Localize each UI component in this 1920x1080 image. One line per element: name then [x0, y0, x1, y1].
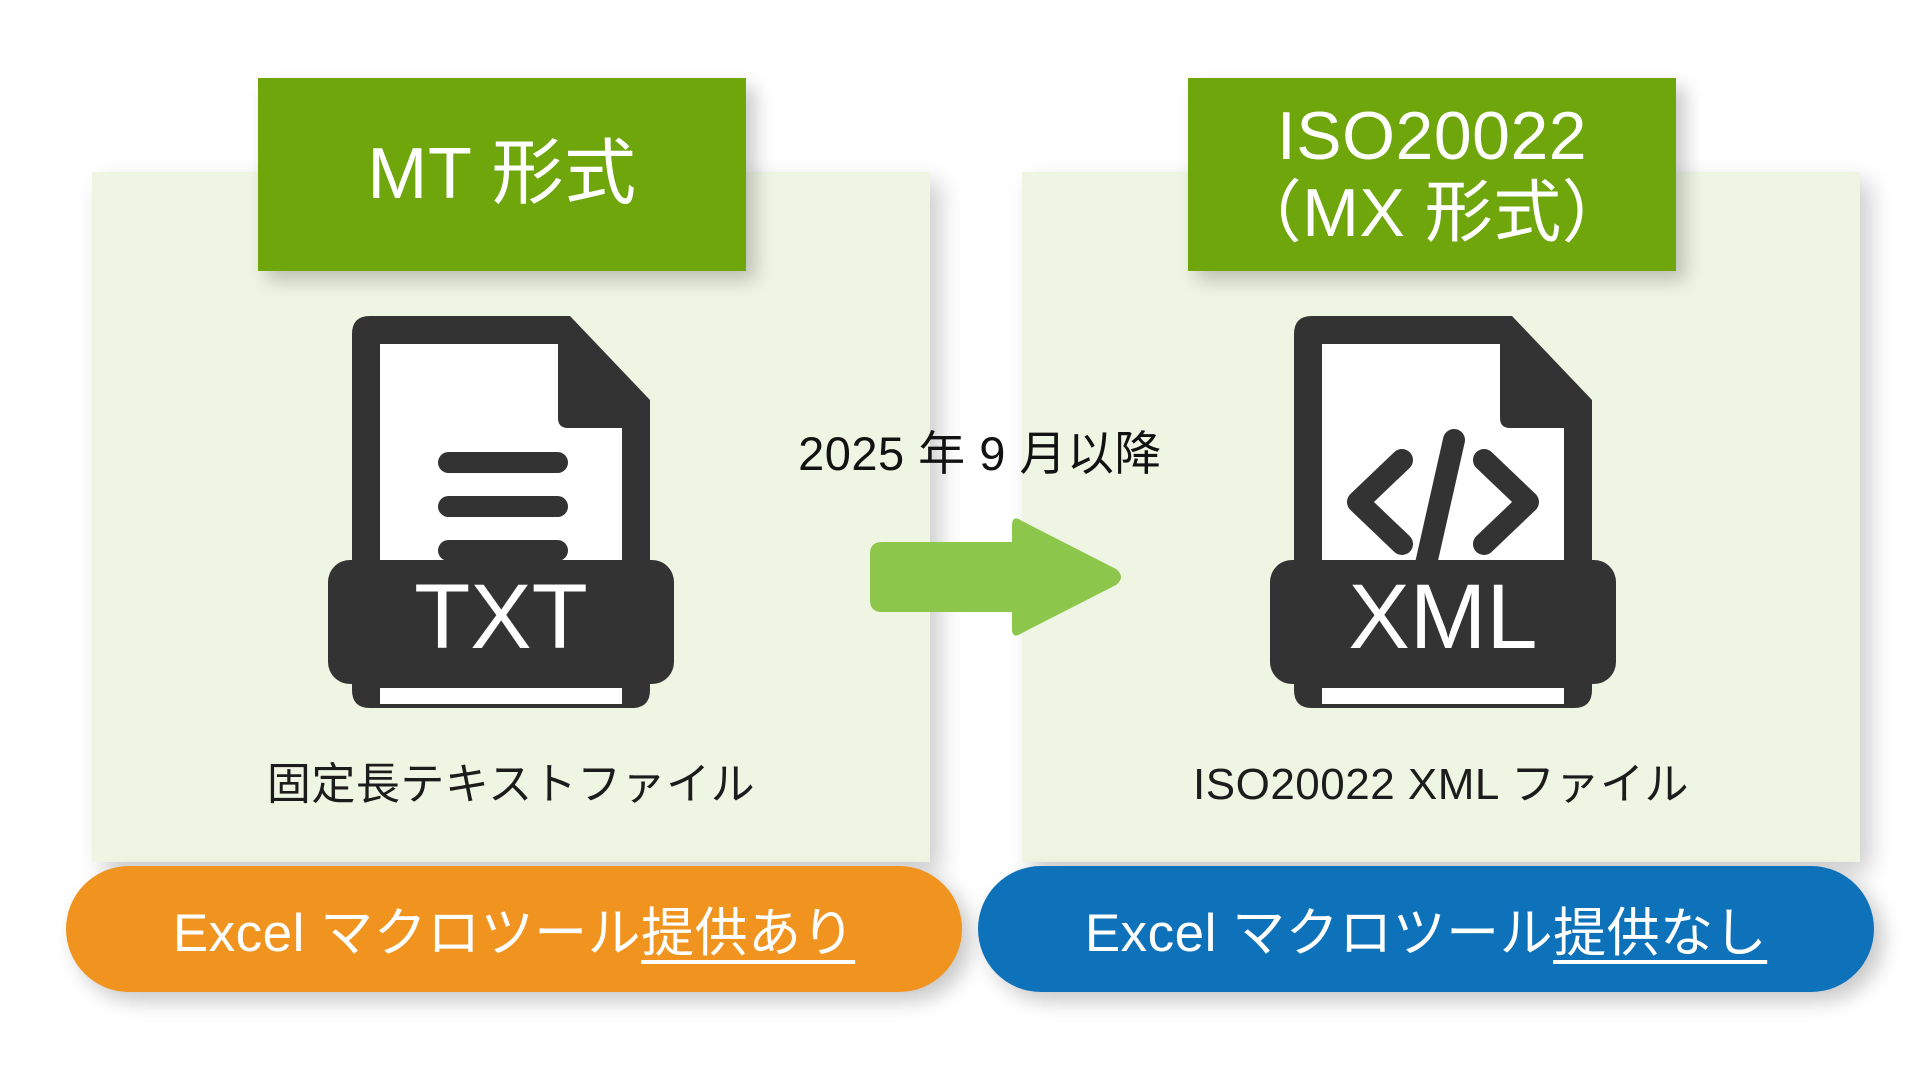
- transition-date-label: 2025 年 9 月以降: [760, 415, 1200, 484]
- caption-iso20022-xml-file: ISO20022 XML ファイル: [1022, 748, 1860, 812]
- transition-arrow-icon: [862, 512, 1126, 642]
- banner-mt-format: MT 形式: [258, 78, 746, 271]
- xml-extension-label: XML: [1348, 566, 1537, 668]
- banner-iso20022: ISO20022 （MX 形式）: [1188, 78, 1676, 271]
- txt-file-icon: TXT: [326, 312, 676, 712]
- badge-macro-tool-unavailable[interactable]: Excel マクロツール提供なし: [978, 866, 1874, 992]
- badge-macro-tool-available[interactable]: Excel マクロツール提供あり: [66, 866, 962, 992]
- txt-extension-label: TXT: [414, 566, 588, 668]
- badge-left-underlined: 提供あり: [641, 891, 855, 967]
- caption-fixed-length-text-file: 固定長テキストファイル: [92, 748, 930, 812]
- xml-file-icon: XML: [1268, 312, 1618, 712]
- badge-right-prefix: Excel マクロツール: [1085, 891, 1553, 967]
- badge-right-underlined: 提供なし: [1553, 891, 1767, 967]
- diagram-canvas: MT 形式 ISO20022 （MX 形式） TXT: [0, 0, 1920, 1080]
- banner-iso-line-1: ISO20022: [1277, 98, 1587, 174]
- banner-mt-line-1: MT 形式: [367, 134, 636, 215]
- banner-iso-line-2: （MX 形式）: [1234, 175, 1630, 251]
- badge-left-prefix: Excel マクロツール: [173, 891, 641, 967]
